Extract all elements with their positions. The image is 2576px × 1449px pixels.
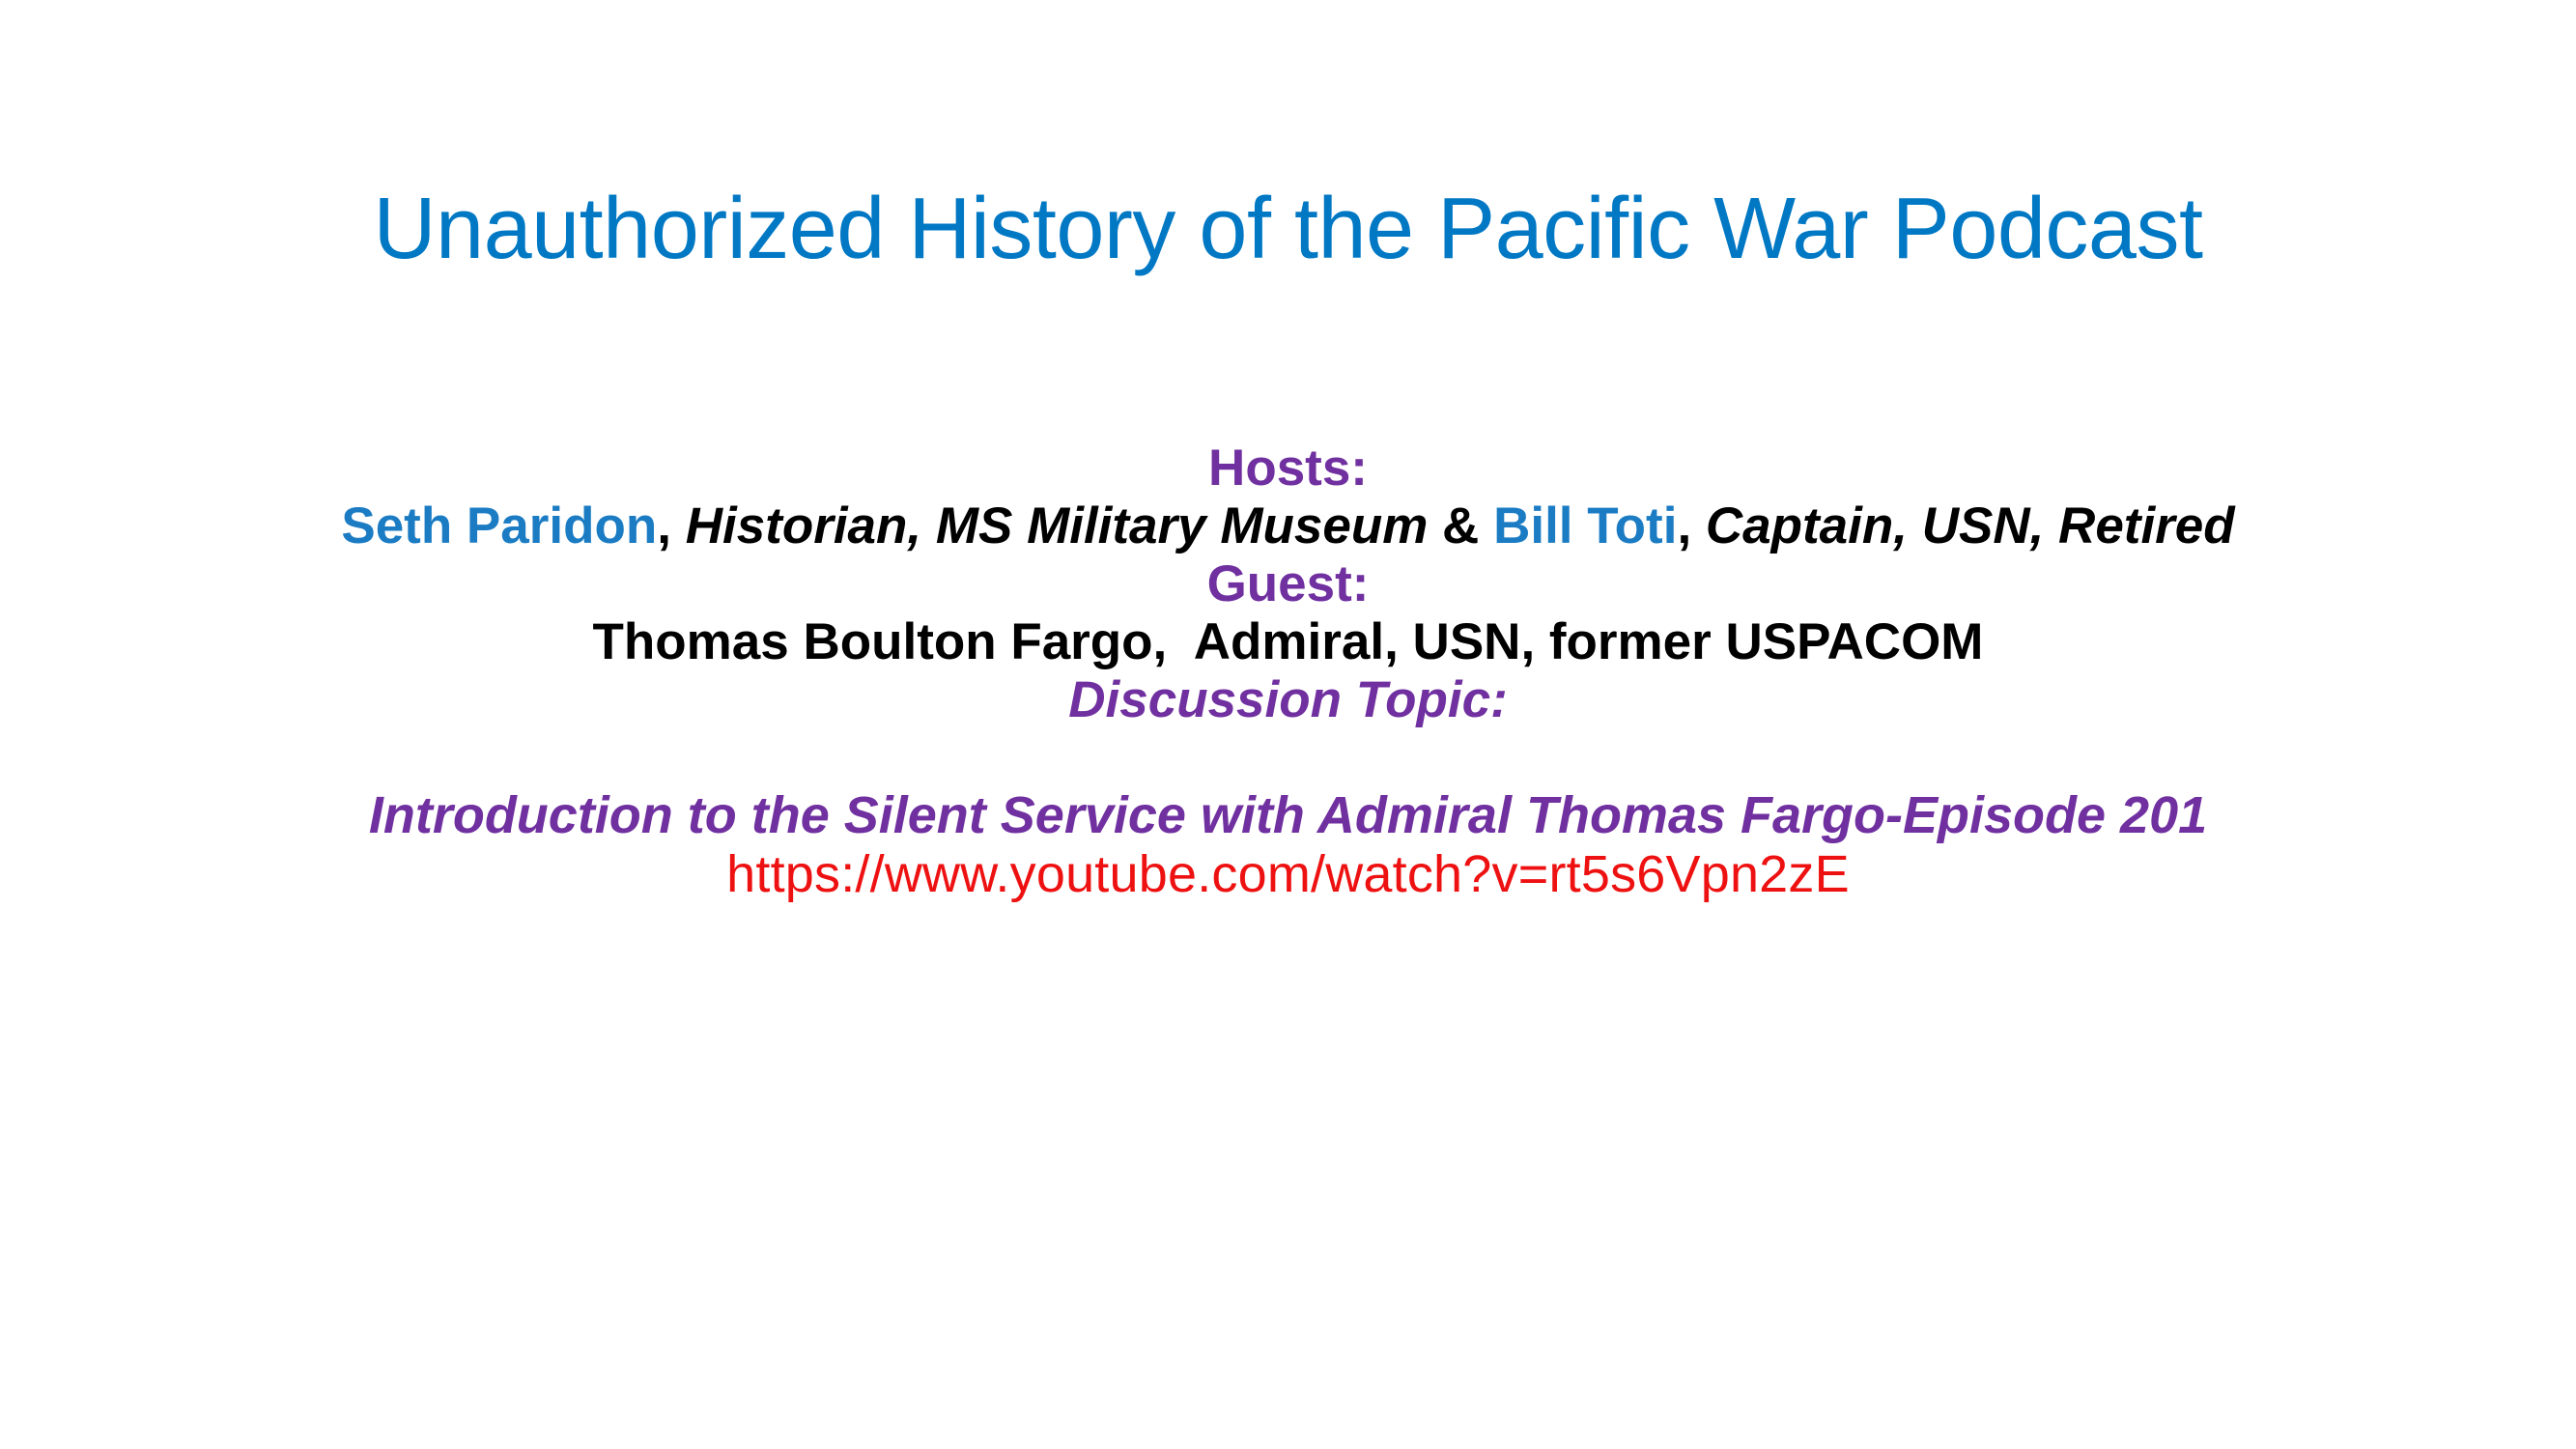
episode-url-link[interactable]: https://www.youtube.com/watch?v=rt5s6Vpn… (0, 845, 2576, 904)
hosts-heading: Hosts: (1208, 440, 1368, 497)
hosts-heading-line: Hosts: (0, 440, 2576, 497)
guest-heading: Guest: (1207, 555, 1370, 612)
host-name-seth-paridon: Seth Paridon (341, 497, 657, 554)
slide-body: Hosts: Seth Paridon, Historian, MS Milit… (0, 440, 2576, 904)
host1-role: Historian, MS Military Museum (686, 497, 1429, 554)
page-title: Unauthorized History of the Pacific War … (0, 184, 2576, 275)
guest-name-and-role: Thomas Boulton Fargo, Admiral, USN, form… (593, 613, 1984, 670)
hosts-detail-line: Seth Paridon, Historian, MS Military Mus… (0, 497, 2576, 555)
title-block: Unauthorized History of the Pacific War … (0, 184, 2576, 275)
hosts-conjunction: & (1428, 497, 1493, 554)
guest-detail-line: Thomas Boulton Fargo, Admiral, USN, form… (0, 613, 2576, 671)
discussion-topic-heading-line: Discussion Topic: (0, 671, 2576, 729)
episode-title: Introduction to the Silent Service with … (0, 786, 2576, 845)
guest-heading-line: Guest: (0, 555, 2576, 613)
presentation-slide: Unauthorized History of the Pacific War … (0, 0, 2576, 1449)
host-name-bill-toti: Bill Toti (1493, 497, 1677, 554)
host2-separator: , (1677, 497, 1705, 554)
host2-role: Captain, USN, Retired (1706, 497, 2235, 554)
discussion-topic-heading: Discussion Topic: (1068, 671, 1508, 728)
blank-line (0, 728, 2576, 786)
host1-separator: , (657, 497, 685, 554)
